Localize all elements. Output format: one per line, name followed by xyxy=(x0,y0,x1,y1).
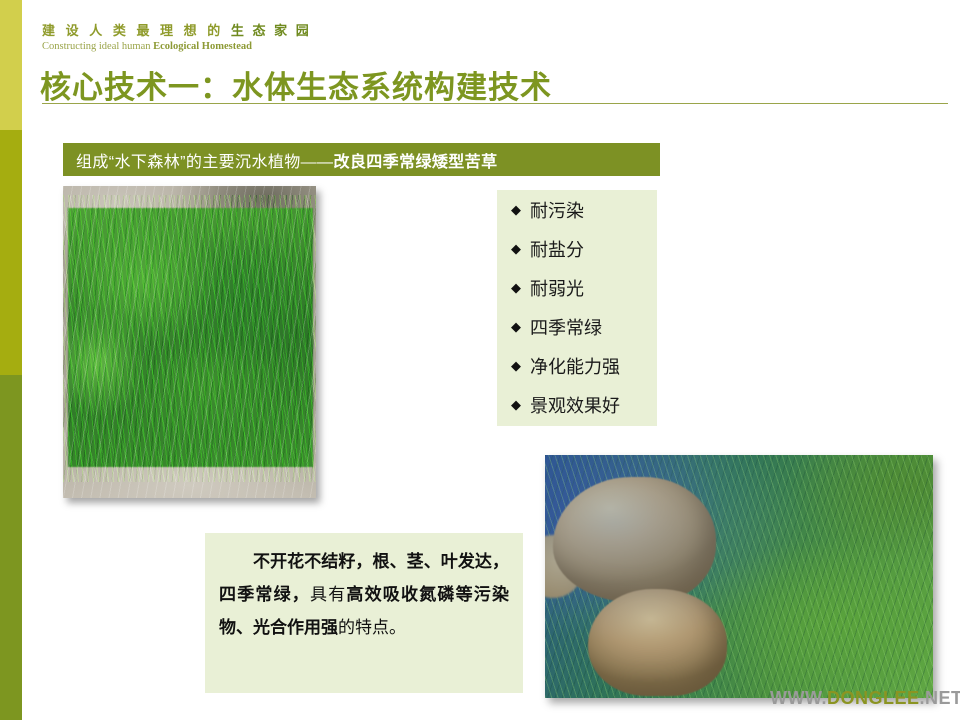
site-watermark: WWW.DONGLEE.NET xyxy=(770,688,960,709)
feature-list-panel: ◆ 耐污染 ◆ 耐盐分 ◆ 耐弱光 ◆ 四季常绿 ◆ 净化能力强 ◆ 景观效果好 xyxy=(497,190,657,426)
feature-item: ◆ 耐盐分 xyxy=(497,229,657,268)
section-banner-lead: 组成“水下森林”的主要沉水植物—— xyxy=(76,154,333,171)
section-banner: 组成“水下森林”的主要沉水植物——改良四季常绿矮型苦草 xyxy=(63,143,660,176)
section-banner-strong: 改良四季常绿矮型苦草 xyxy=(333,154,497,171)
title-underline-rule xyxy=(42,103,948,104)
diamond-bullet-icon: ◆ xyxy=(511,242,521,255)
brand-chinese-lead: 建 设 人 类 最 理 想 的 xyxy=(42,23,231,38)
photo-underwater-haze xyxy=(545,455,933,698)
feature-item-label: 耐弱光 xyxy=(530,275,584,301)
watermark-prefix: WWW. xyxy=(770,688,827,708)
diamond-bullet-icon: ◆ xyxy=(511,203,521,216)
feature-item: ◆ 四季常绿 xyxy=(497,307,657,346)
sidebar-color-rail xyxy=(0,0,22,720)
photo-underwater xyxy=(545,455,933,698)
diamond-bullet-icon: ◆ xyxy=(511,398,521,411)
diamond-bullet-icon: ◆ xyxy=(511,359,521,372)
feature-item-label: 净化能力强 xyxy=(530,353,620,379)
photo-plant-bed-highlights xyxy=(63,186,316,498)
page-title: 核心技术一：水体生态系统构建技术 xyxy=(40,62,552,107)
feature-item-label: 四季常绿 xyxy=(530,314,602,340)
feature-item: ◆ 耐弱光 xyxy=(497,268,657,307)
photo-plant-bed xyxy=(63,186,316,498)
diamond-bullet-icon: ◆ xyxy=(511,281,521,294)
description-box: 不开花不结籽，根、茎、叶发达，四季常绿，具有高效吸收氮磷等污染物、光合作用强的特… xyxy=(205,533,523,693)
diamond-bullet-icon: ◆ xyxy=(511,320,521,333)
description-normal-2: 的特点。 xyxy=(338,618,406,637)
feature-item-label: 耐盐分 xyxy=(530,236,584,262)
section-banner-text: 组成“水下森林”的主要沉水植物——改良四季常绿矮型苦草 xyxy=(63,148,497,172)
description-text: 不开花不结籽，根、茎、叶发达，四季常绿，具有高效吸收氮磷等污染物、光合作用强的特… xyxy=(219,545,509,644)
rail-block-top xyxy=(0,0,22,130)
rail-block-middle xyxy=(0,130,22,375)
feature-item-label: 耐污染 xyxy=(530,197,584,223)
feature-item: ◆ 景观效果好 xyxy=(497,385,657,424)
brand-english-lead: Constructing ideal human xyxy=(42,41,153,52)
feature-item: ◆ 耐污染 xyxy=(497,190,657,229)
brand-english-strong: Ecological Homestead xyxy=(153,41,252,52)
brand-english-slogan: Constructing ideal human Ecological Home… xyxy=(42,40,272,54)
description-normal-1: 具有 xyxy=(310,585,346,604)
feature-item: ◆ 净化能力强 xyxy=(497,346,657,385)
rail-block-bottom xyxy=(0,375,22,720)
brand-chinese-slogan: 建 设 人 类 最 理 想 的 生 态 家 园 xyxy=(42,22,272,39)
feature-item-label: 景观效果好 xyxy=(530,392,620,418)
watermark-brand: DONGLEE xyxy=(827,688,920,708)
brand-logo: 建 设 人 类 最 理 想 的 生 态 家 园 Constructing ide… xyxy=(42,22,272,54)
brand-chinese-strong: 生 态 家 园 xyxy=(231,23,311,38)
watermark-suffix: .NET xyxy=(920,688,960,708)
